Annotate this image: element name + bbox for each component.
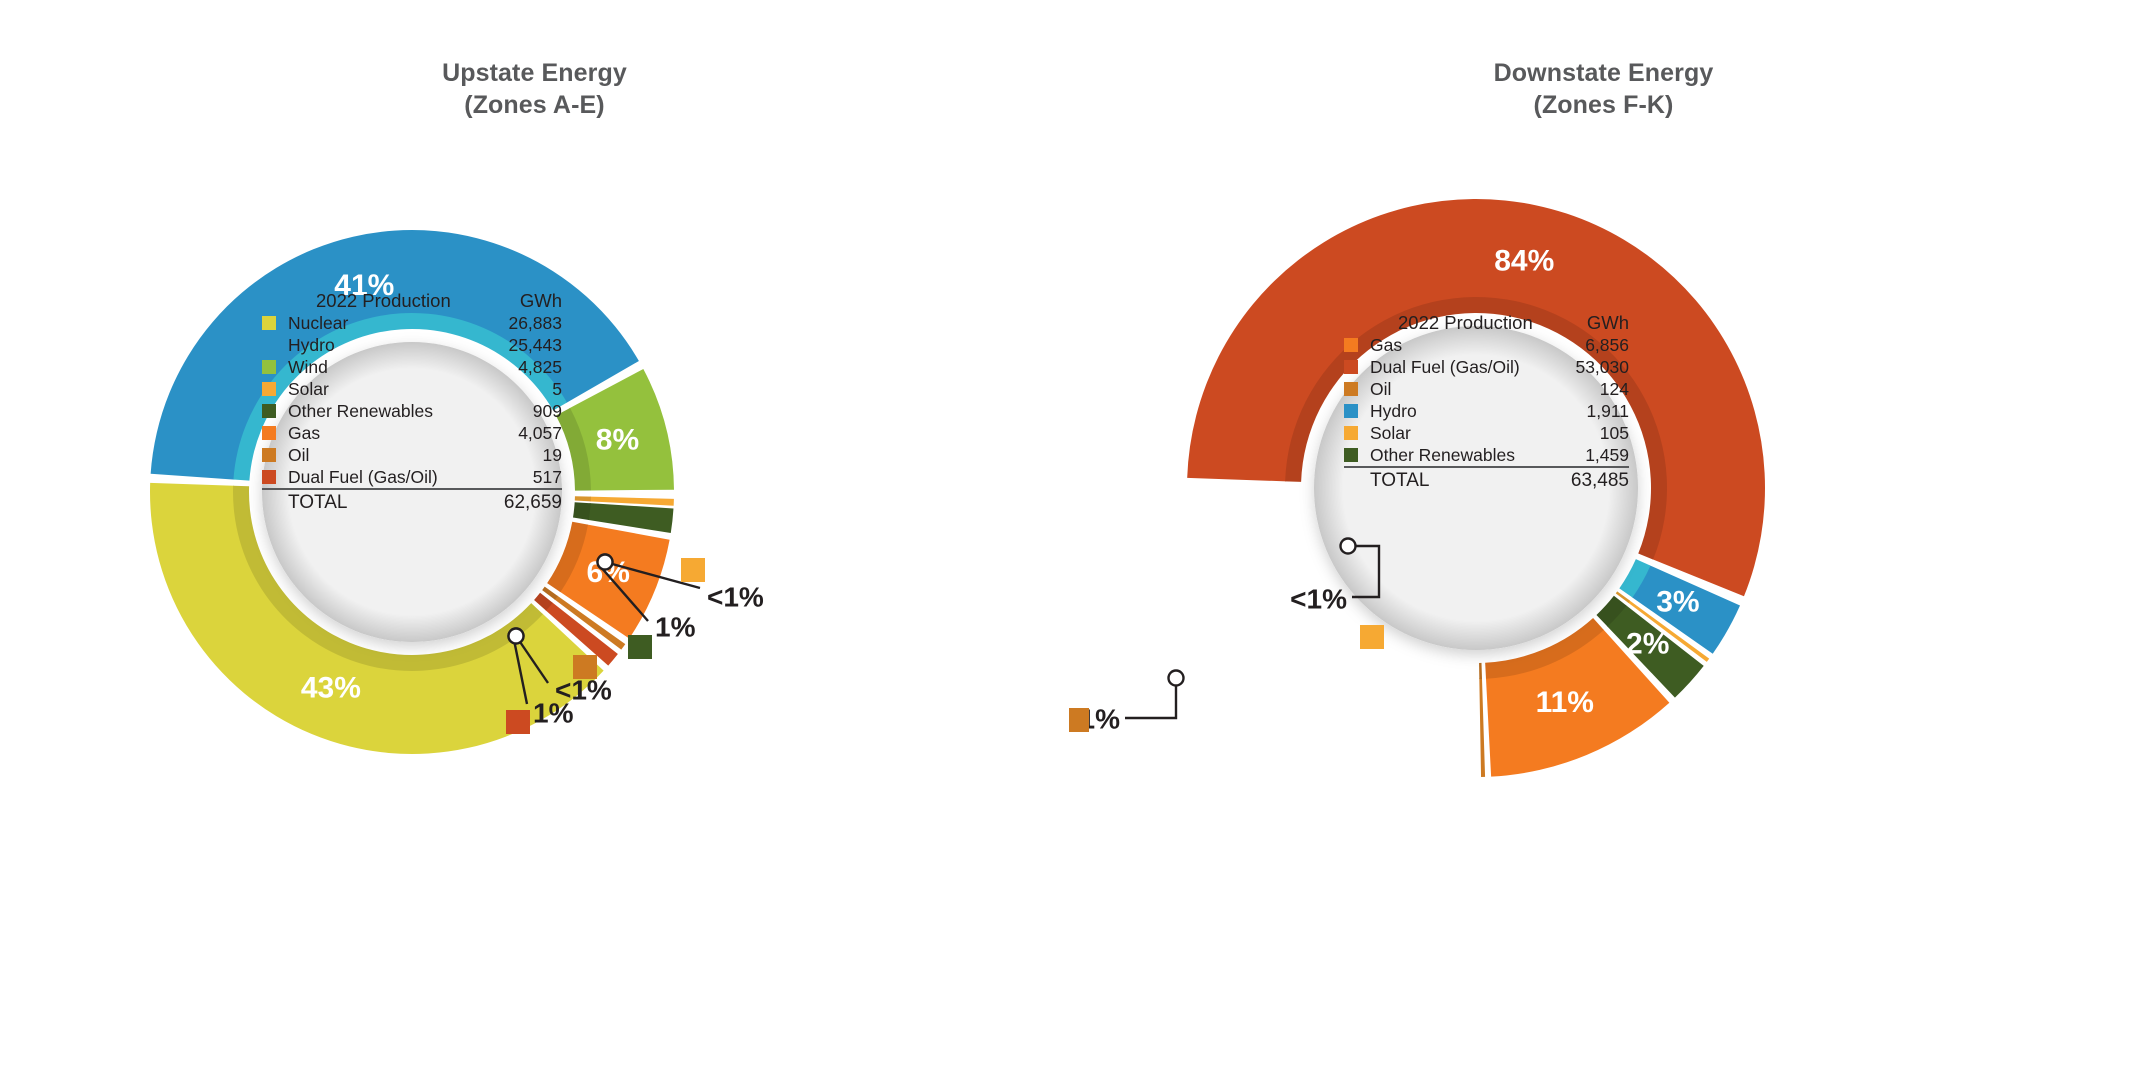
percent-label-nuclear: 43% bbox=[301, 671, 361, 704]
legend-swatch-cell bbox=[262, 334, 288, 356]
legend-row: Gas6,856 bbox=[1344, 334, 1629, 356]
legend-row-value: 5 bbox=[490, 378, 562, 400]
donut-segment-oil[interactable] bbox=[1479, 678, 1485, 777]
panel-downstate: Downstate Energy (Zones F-K) 84 bbox=[1069, 0, 2138, 1070]
legend-row-value: 6,856 bbox=[1561, 334, 1629, 356]
legend-row-value: 53,030 bbox=[1561, 356, 1629, 378]
panel-upstate: Upstate Energy (Zones A-E) 41%8 bbox=[0, 0, 1069, 1070]
donut-chart-upstate: 41%8%6%43% <1%1%<1%1% bbox=[0, 0, 1069, 1070]
legend-color-swatch-icon bbox=[1344, 382, 1358, 396]
callout-color-swatch-icon-dual_fuel bbox=[506, 710, 530, 734]
legend-table-downstate: 2022 Production GWh Gas6,856Dual Fuel (G… bbox=[1344, 312, 1629, 493]
legend-row-label: Solar bbox=[288, 378, 490, 400]
legend-row-label: Nuclear bbox=[288, 312, 490, 334]
callout-percent-label-solar: <1% bbox=[1290, 584, 1347, 615]
legend-row-label: Dual Fuel (Gas/Oil) bbox=[1370, 356, 1561, 378]
legend-total-label: TOTAL bbox=[288, 491, 490, 515]
legend-swatch-cell bbox=[262, 400, 288, 422]
callout-color-swatch-icon-other_renewables bbox=[628, 635, 652, 659]
percent-label-hydro: 3% bbox=[1656, 586, 1699, 619]
legend-header-label: 2022 Production bbox=[1370, 312, 1561, 334]
legend-table: 2022 Production GWh Nuclear26,883Hydro25… bbox=[262, 290, 562, 515]
legend-row-value: 909 bbox=[490, 400, 562, 422]
legend-row-label: Gas bbox=[288, 422, 490, 444]
legend-row-value: 124 bbox=[1561, 378, 1629, 400]
legend-swatch-cell bbox=[262, 312, 288, 334]
donut-segment-bevel-other_renewables bbox=[573, 502, 591, 520]
legend-row: Hydro1,911 bbox=[1344, 400, 1629, 422]
infographic-board: Upstate Energy (Zones A-E) 41%8 bbox=[0, 0, 2138, 1070]
donut-svg-upstate: 41%8%6%43% <1%1%<1%1% bbox=[0, 0, 1069, 1070]
legend-row-value: 4,825 bbox=[490, 356, 562, 378]
legend-header-value: GWh bbox=[1561, 312, 1629, 334]
legend-swatch-cell bbox=[262, 444, 288, 466]
legend-header-row: 2022 Production GWh bbox=[1344, 312, 1629, 334]
legend-color-swatch-icon bbox=[262, 448, 276, 462]
legend-row-label: Oil bbox=[288, 444, 490, 466]
legend-row-label: Other Renewables bbox=[288, 400, 490, 422]
legend-row: Oil124 bbox=[1344, 378, 1629, 400]
legend-row-label: Wind bbox=[288, 356, 490, 378]
legend-color-swatch-icon bbox=[262, 316, 276, 330]
legend-color-swatch-icon bbox=[1344, 426, 1358, 440]
percent-label-other_renewables: 2% bbox=[1626, 627, 1669, 660]
legend-row-value: 19 bbox=[490, 444, 562, 466]
percent-label-gas: 11% bbox=[1536, 686, 1594, 719]
legend-row-value: 1,911 bbox=[1561, 400, 1629, 422]
legend-swatch-cell bbox=[1344, 356, 1370, 378]
legend-header-label: 2022 Production bbox=[288, 290, 490, 312]
callout-color-swatch-icon-oil bbox=[1069, 708, 1089, 732]
legend-row: Other Renewables909 bbox=[262, 400, 562, 422]
legend-swatch-cell bbox=[262, 422, 288, 444]
callout-color-swatch-icon-solar bbox=[1360, 625, 1384, 649]
legend-row-value: 1,459 bbox=[1561, 444, 1629, 467]
legend-row-label: Hydro bbox=[1370, 400, 1561, 422]
legend-swatch-cell bbox=[262, 356, 288, 378]
legend-color-swatch-icon bbox=[262, 470, 276, 484]
legend-swatch-cell bbox=[1344, 378, 1370, 400]
callout-anchor-dot-solar bbox=[1341, 539, 1356, 554]
legend-total-label: TOTAL bbox=[1370, 469, 1561, 493]
legend-color-swatch-icon bbox=[1344, 338, 1358, 352]
legend-header-row: 2022 Production GWh bbox=[262, 290, 562, 312]
legend-row: Solar105 bbox=[1344, 422, 1629, 444]
legend-body: Nuclear26,883Hydro25,443Wind4,825Solar5O… bbox=[262, 312, 562, 489]
legend-row: Nuclear26,883 bbox=[262, 312, 562, 334]
legend-row-label: Dual Fuel (Gas/Oil) bbox=[288, 466, 490, 489]
legend-row: Wind4,825 bbox=[262, 356, 562, 378]
legend-color-swatch-icon bbox=[262, 382, 276, 396]
percent-label-dual_fuel: 84% bbox=[1494, 245, 1554, 278]
legend-header-value: GWh bbox=[490, 290, 562, 312]
callout-percent-label-other_renewables: 1% bbox=[655, 612, 696, 643]
legend-header-swatch-cell bbox=[262, 290, 288, 312]
callout-percent-label-dual_fuel: 1% bbox=[533, 698, 574, 729]
callout-anchor-dot-oil bbox=[1169, 671, 1184, 686]
legend-row: Dual Fuel (Gas/Oil)517 bbox=[262, 466, 562, 489]
legend-row-label: Solar bbox=[1370, 422, 1561, 444]
legend-swatch-cell bbox=[1344, 400, 1370, 422]
legend-color-swatch-icon bbox=[1344, 360, 1358, 374]
legend-swatch-cell bbox=[262, 378, 288, 400]
legend-row: Hydro25,443 bbox=[262, 334, 562, 356]
legend-color-swatch-icon bbox=[262, 426, 276, 440]
percent-label-wind: 8% bbox=[596, 423, 639, 456]
legend-total-row: TOTAL 62,659 bbox=[262, 491, 562, 515]
callout-color-swatch-icon-solar bbox=[681, 558, 705, 582]
legend-row-value: 26,883 bbox=[490, 312, 562, 334]
legend-swatch-cell bbox=[262, 466, 288, 489]
callout-anchor-dot-dual_fuel bbox=[509, 629, 524, 644]
legend-swatch-cell bbox=[1344, 444, 1370, 467]
legend-table-upstate: 2022 Production GWh Nuclear26,883Hydro25… bbox=[262, 290, 562, 515]
legend-row-label: Other Renewables bbox=[1370, 444, 1561, 467]
legend-row: Dual Fuel (Gas/Oil)53,030 bbox=[1344, 356, 1629, 378]
callout-anchor-dot-other_renewables bbox=[598, 555, 613, 570]
legend-row-value: 4,057 bbox=[490, 422, 562, 444]
legend-row-label: Hydro bbox=[288, 334, 490, 356]
legend-row: Solar5 bbox=[262, 378, 562, 400]
legend-row-value: 25,443 bbox=[490, 334, 562, 356]
legend-header-swatch-cell bbox=[1344, 312, 1370, 334]
donut-segment-bevel-solar bbox=[575, 496, 591, 501]
legend-color-swatch-icon bbox=[262, 338, 276, 352]
legend-color-swatch-icon bbox=[262, 360, 276, 374]
callout-leader-line-oil bbox=[1125, 678, 1176, 718]
legend-color-swatch-icon bbox=[1344, 448, 1358, 462]
legend-row-value: 105 bbox=[1561, 422, 1629, 444]
legend-table: 2022 Production GWh Gas6,856Dual Fuel (G… bbox=[1344, 312, 1629, 493]
legend-total-value: 63,485 bbox=[1561, 469, 1629, 493]
legend-row-value: 517 bbox=[490, 466, 562, 489]
donut-segment-bevel-oil bbox=[1479, 663, 1482, 679]
legend-row-label: Oil bbox=[1370, 378, 1561, 400]
legend-body: Gas6,856Dual Fuel (Gas/Oil)53,030Oil124H… bbox=[1344, 334, 1629, 467]
callout-percent-label-solar: <1% bbox=[707, 582, 764, 613]
legend-row: Gas4,057 bbox=[262, 422, 562, 444]
legend-swatch-cell bbox=[1344, 334, 1370, 356]
legend-row-label: Gas bbox=[1370, 334, 1561, 356]
donut-chart-downstate: 84%3%2%11% <1%<1% bbox=[1069, 0, 2138, 1070]
legend-color-swatch-icon bbox=[1344, 404, 1358, 418]
legend-total-row: TOTAL 63,485 bbox=[1344, 469, 1629, 493]
callout-color-swatch-icon-oil bbox=[573, 655, 597, 679]
legend-swatch-cell bbox=[1344, 422, 1370, 444]
legend-row: Oil19 bbox=[262, 444, 562, 466]
donut-svg-downstate: 84%3%2%11% <1%<1% bbox=[1069, 0, 2138, 1070]
legend-color-swatch-icon bbox=[262, 404, 276, 418]
legend-total-value: 62,659 bbox=[490, 491, 562, 515]
legend-row: Other Renewables1,459 bbox=[1344, 444, 1629, 467]
